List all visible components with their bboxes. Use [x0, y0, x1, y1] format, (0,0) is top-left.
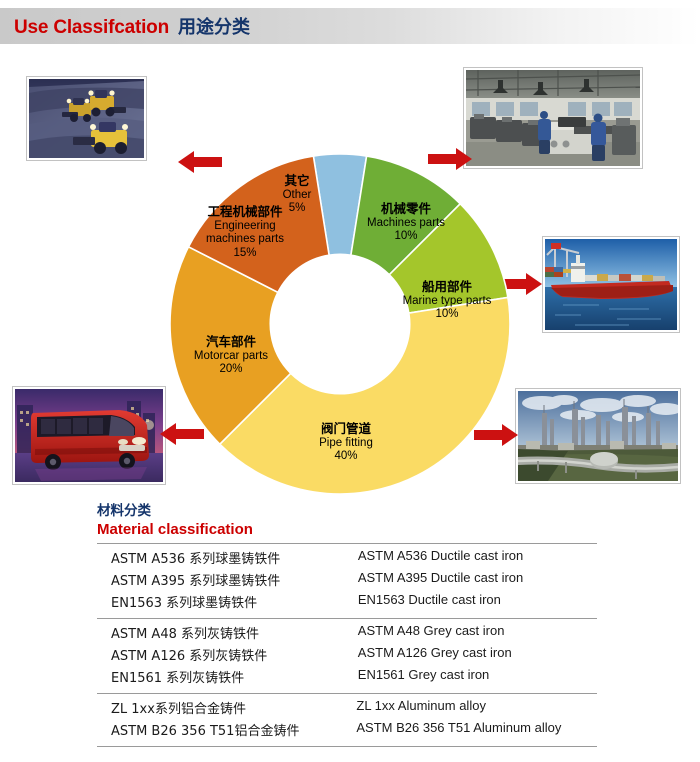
table-row: EN1563 系列球墨铸铁件 EN1563 Ductile cast iron [97, 590, 597, 612]
material-en: ASTM A395 Ductile cast iron [358, 568, 597, 590]
material-table-rule-bottom [97, 746, 597, 747]
material-classification-table-grey: ASTM A48 系列灰铸铁件 ASTM A48 Grey cast iron … [97, 621, 597, 687]
page-title-chinese: 用途分类 [178, 17, 250, 38]
material-en: ASTM A48 Grey cast iron [358, 621, 597, 643]
table-row: ASTM A126 系列灰铸铁件 ASTM A126 Grey cast iro… [97, 643, 597, 665]
material-classification-table: ASTM A536 系列球墨铸铁件 ASTM A536 Ductile cast… [97, 546, 597, 612]
material-en: EN1561 Grey cast iron [358, 665, 597, 687]
material-en: EN1563 Ductile cast iron [358, 590, 597, 612]
material-en: ZL 1xx Aluminum alloy [356, 696, 597, 718]
page-header-title: Use Classifcation用途分类 [14, 13, 250, 39]
table-row: ZL 1xx系列铝合金铸件 ZL 1xx Aluminum alloy [97, 696, 597, 718]
table-row: EN1561 系列灰铸铁件 EN1561 Grey cast iron [97, 665, 597, 687]
page-header-bar: Use Classifcation用途分类 [0, 8, 700, 44]
material-en: ASTM A126 Grey cast iron [358, 643, 597, 665]
table-row: ASTM A536 系列球墨铸铁件 ASTM A536 Ductile cast… [97, 546, 597, 568]
material-cn: ASTM B26 356 T51铝合金铸件 [97, 718, 356, 740]
construction-loaders-photo [27, 77, 146, 160]
material-cn: EN1563 系列球墨铸铁件 [97, 590, 358, 612]
use-classification-donut-chart: 其它 Other 5% 机械零件 Machines parts 10% 船用部件… [168, 152, 512, 496]
material-en: ASTM B26 356 T51 Aluminum alloy [356, 718, 597, 740]
container-ship-photo [543, 237, 679, 332]
material-classification-section: 材料分类 Material classification ASTM A536 系… [97, 503, 597, 747]
material-cn: ASTM A48 系列灰铸铁件 [97, 621, 358, 643]
page-title-english: Use Classifcation [14, 17, 169, 38]
material-table-rule-top [97, 543, 597, 544]
material-classification-table-alloy: ZL 1xx系列铝合金铸件 ZL 1xx Aluminum alloy ASTM… [97, 696, 597, 740]
material-table-rule-1 [97, 618, 597, 619]
table-row: ASTM B26 356 T51铝合金铸件 ASTM B26 356 T51 A… [97, 718, 597, 740]
material-cn: ASTM A536 系列球墨铸铁件 [97, 546, 358, 568]
material-en: ASTM A536 Ductile cast iron [358, 546, 597, 568]
material-cn: ZL 1xx系列铝合金铸件 [97, 696, 356, 718]
material-title-chinese: 材料分类 [97, 503, 597, 520]
material-cn: ASTM A126 系列灰铸铁件 [97, 643, 358, 665]
material-cn: EN1561 系列灰铸铁件 [97, 665, 358, 687]
material-table-rule-2 [97, 693, 597, 694]
material-cn: ASTM A395 系列球墨铸铁件 [97, 568, 358, 590]
coach-bus-photo [13, 387, 165, 484]
donut-svg [168, 152, 512, 496]
table-row: ASTM A48 系列灰铸铁件 ASTM A48 Grey cast iron [97, 621, 597, 643]
table-row: ASTM A395 系列球墨铸铁件 ASTM A395 Ductile cast… [97, 568, 597, 590]
material-title-english: Material classification [97, 520, 597, 540]
oil-refinery-photo [516, 389, 680, 483]
